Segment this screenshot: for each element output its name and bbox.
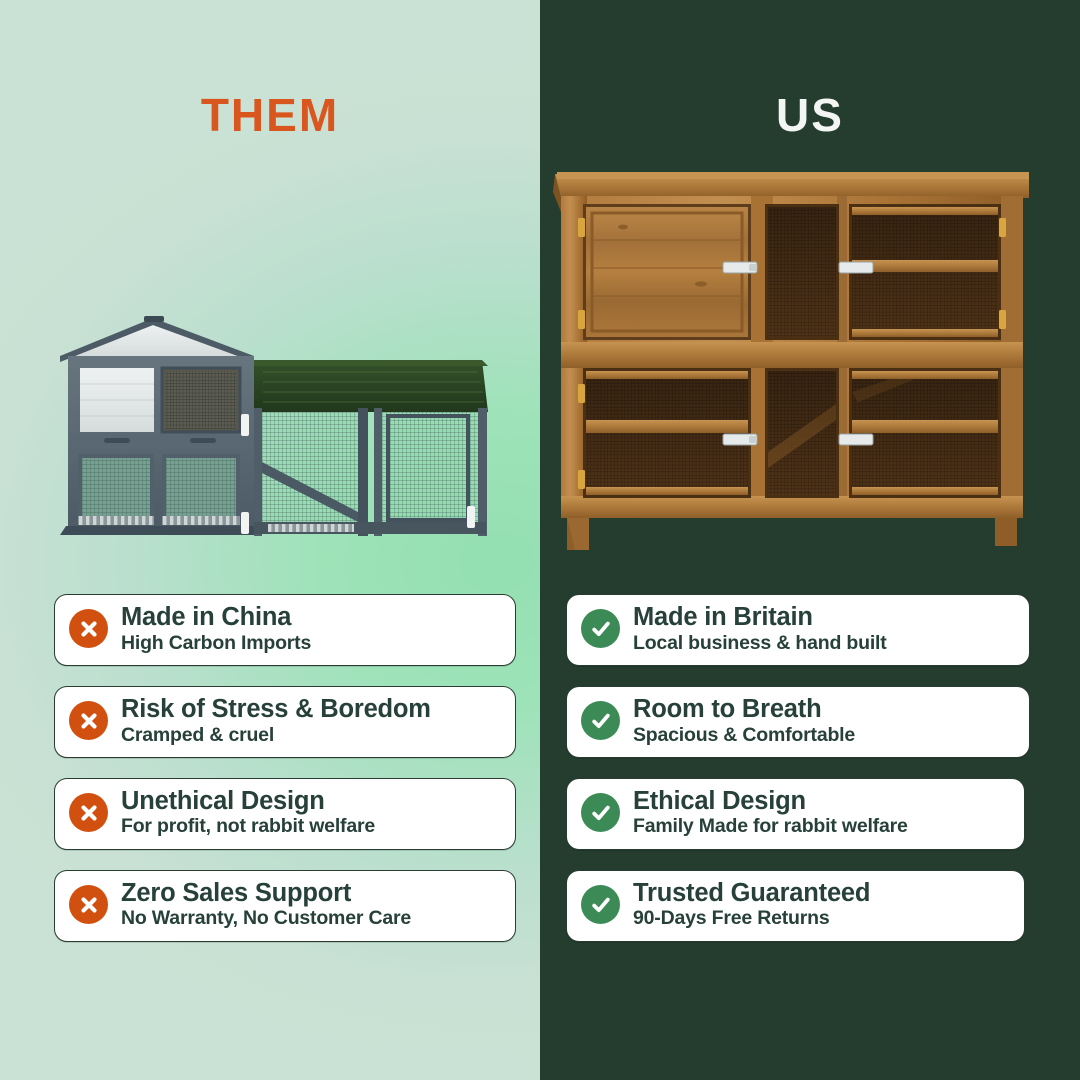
list-item-title: Unethical Design [121, 788, 375, 816]
list-item[interactable]: Room to Breath Spacious & Comfortable [566, 686, 1030, 758]
list-item-subtitle: For profit, not rabbit welfare [121, 816, 375, 837]
list-item[interactable]: Zero Sales Support No Warranty, No Custo… [54, 870, 516, 942]
them-title: THEM [0, 92, 540, 138]
list-item[interactable]: Trusted Guaranteed 90-Days Free Returns [566, 870, 1025, 942]
hutch-wood-icon [553, 152, 1031, 557]
list-item-title: Trusted Guaranteed [633, 880, 870, 908]
list-item[interactable]: Unethical Design For profit, not rabbit … [54, 778, 516, 850]
list-item-subtitle: High Carbon Imports [121, 633, 311, 654]
list-item-title: Room to Breath [633, 696, 855, 724]
list-item[interactable]: Risk of Stress & Boredom Cramped & cruel [54, 686, 516, 758]
list-item-subtitle: Local business & hand built [633, 633, 887, 654]
us-title: US [540, 92, 1080, 138]
list-item-title: Risk of Stress & Boredom [121, 696, 431, 724]
list-item[interactable]: Ethical Design Family Made for rabbit we… [566, 778, 1025, 850]
list-item-subtitle: Spacious & Comfortable [633, 725, 855, 746]
us-panel: US [540, 0, 1080, 1080]
check-icon [581, 701, 620, 740]
list-item-subtitle: 90-Days Free Returns [633, 908, 870, 929]
list-item-title: Zero Sales Support [121, 880, 411, 908]
check-icon [581, 793, 620, 832]
them-feature-list: Made in China High Carbon Imports Risk o… [0, 594, 540, 962]
list-item-subtitle: Cramped & cruel [121, 725, 431, 746]
cross-icon [69, 609, 108, 648]
list-item[interactable]: Made in China High Carbon Imports [54, 594, 516, 666]
cross-icon [69, 793, 108, 832]
list-item-subtitle: Family Made for rabbit welfare [633, 816, 908, 837]
hutch-grey-icon [58, 316, 488, 562]
check-icon [581, 609, 620, 648]
list-item-title: Ethical Design [633, 788, 908, 816]
comparison-infographic: THEM [0, 0, 1080, 1080]
us-feature-list: Made in Britain Local business & hand bu… [540, 594, 1080, 962]
list-item-title: Made in Britain [633, 604, 887, 632]
cross-icon [69, 885, 108, 924]
list-item-subtitle: No Warranty, No Customer Care [121, 908, 411, 929]
them-panel: THEM [0, 0, 540, 1080]
list-item[interactable]: Made in Britain Local business & hand bu… [566, 594, 1030, 666]
list-item-title: Made in China [121, 604, 311, 632]
cross-icon [69, 701, 108, 740]
check-icon [581, 885, 620, 924]
